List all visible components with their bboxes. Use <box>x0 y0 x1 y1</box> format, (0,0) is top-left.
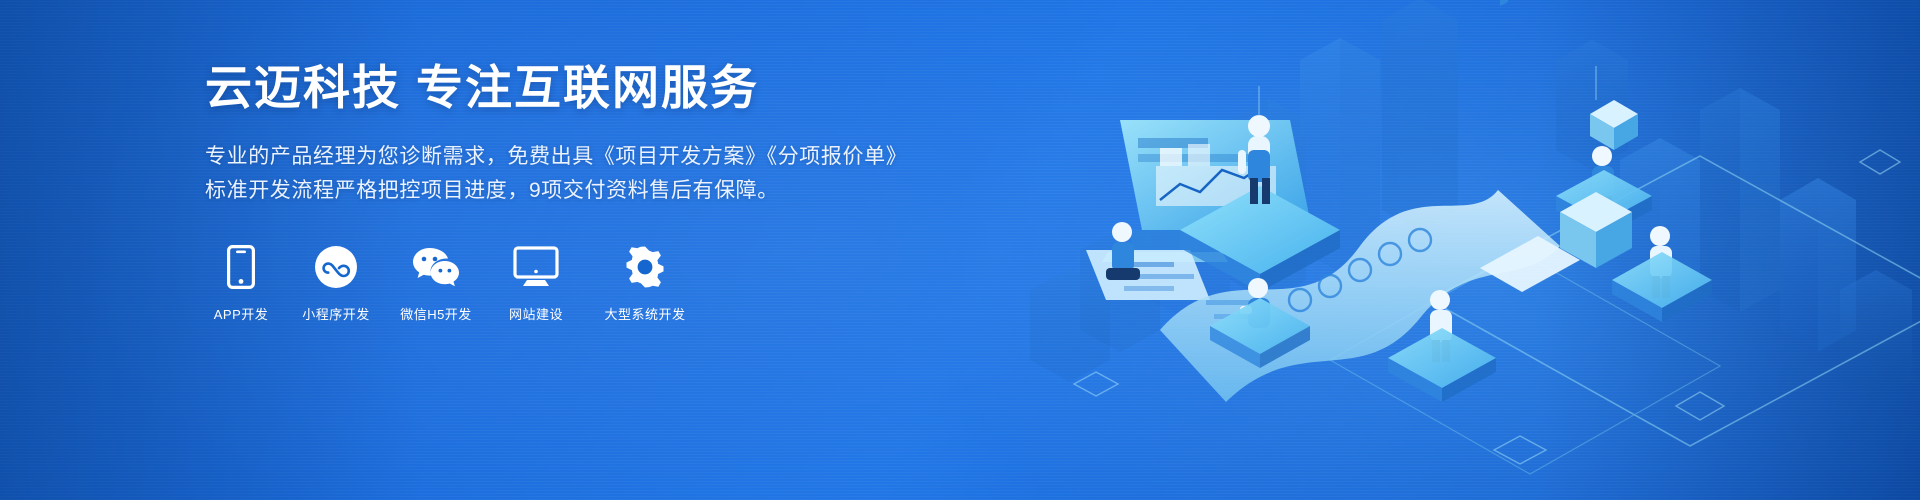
hero-subtitle: 专业的产品经理为您诊断需求，免费出具《项目开发方案》《分项报价单》 标准开发流程… <box>205 140 965 208</box>
hero-subtitle-line-2: 标准开发流程严格把控项目进度，9项交付资料售后有保障。 <box>205 174 965 208</box>
service-item-app[interactable]: APP开发 <box>205 244 277 323</box>
service-label-system: 大型系统开发 <box>604 304 685 323</box>
wechat-icon <box>411 244 461 290</box>
service-item-miniprogram[interactable]: 小程序开发 <box>299 244 373 323</box>
hero-banner: 云迈科技 专注互联网服务 专业的产品经理为您诊断需求，免费出具《项目开发方案》《… <box>0 0 1920 500</box>
service-label-miniprogram: 小程序开发 <box>302 304 370 323</box>
service-list: APP开发 小程序开发 <box>205 244 965 323</box>
service-item-wechat[interactable]: 微信H5开发 <box>395 244 477 323</box>
gear-icon <box>623 244 667 290</box>
service-label-app: APP开发 <box>214 304 269 323</box>
mini-program-icon <box>314 244 358 290</box>
page-title: 云迈科技 专注互联网服务 <box>205 62 965 114</box>
document-sheets <box>1086 250 1210 300</box>
monitor-icon <box>513 244 559 290</box>
service-label-website: 网站建设 <box>509 304 563 323</box>
mobile-phone-icon <box>227 244 255 290</box>
service-label-wechat: 微信H5开发 <box>400 304 472 323</box>
service-item-system[interactable]: 大型系统开发 <box>595 244 695 323</box>
hero-content: 云迈科技 专注互联网服务 专业的产品经理为您诊断需求，免费出具《项目开发方案》《… <box>205 62 965 323</box>
service-item-website[interactable]: 网站建设 <box>499 244 573 323</box>
hero-illustration <box>1000 0 1920 500</box>
hero-subtitle-line-1: 专业的产品经理为您诊断需求，免费出具《项目开发方案》《分项报价单》 <box>205 145 907 168</box>
